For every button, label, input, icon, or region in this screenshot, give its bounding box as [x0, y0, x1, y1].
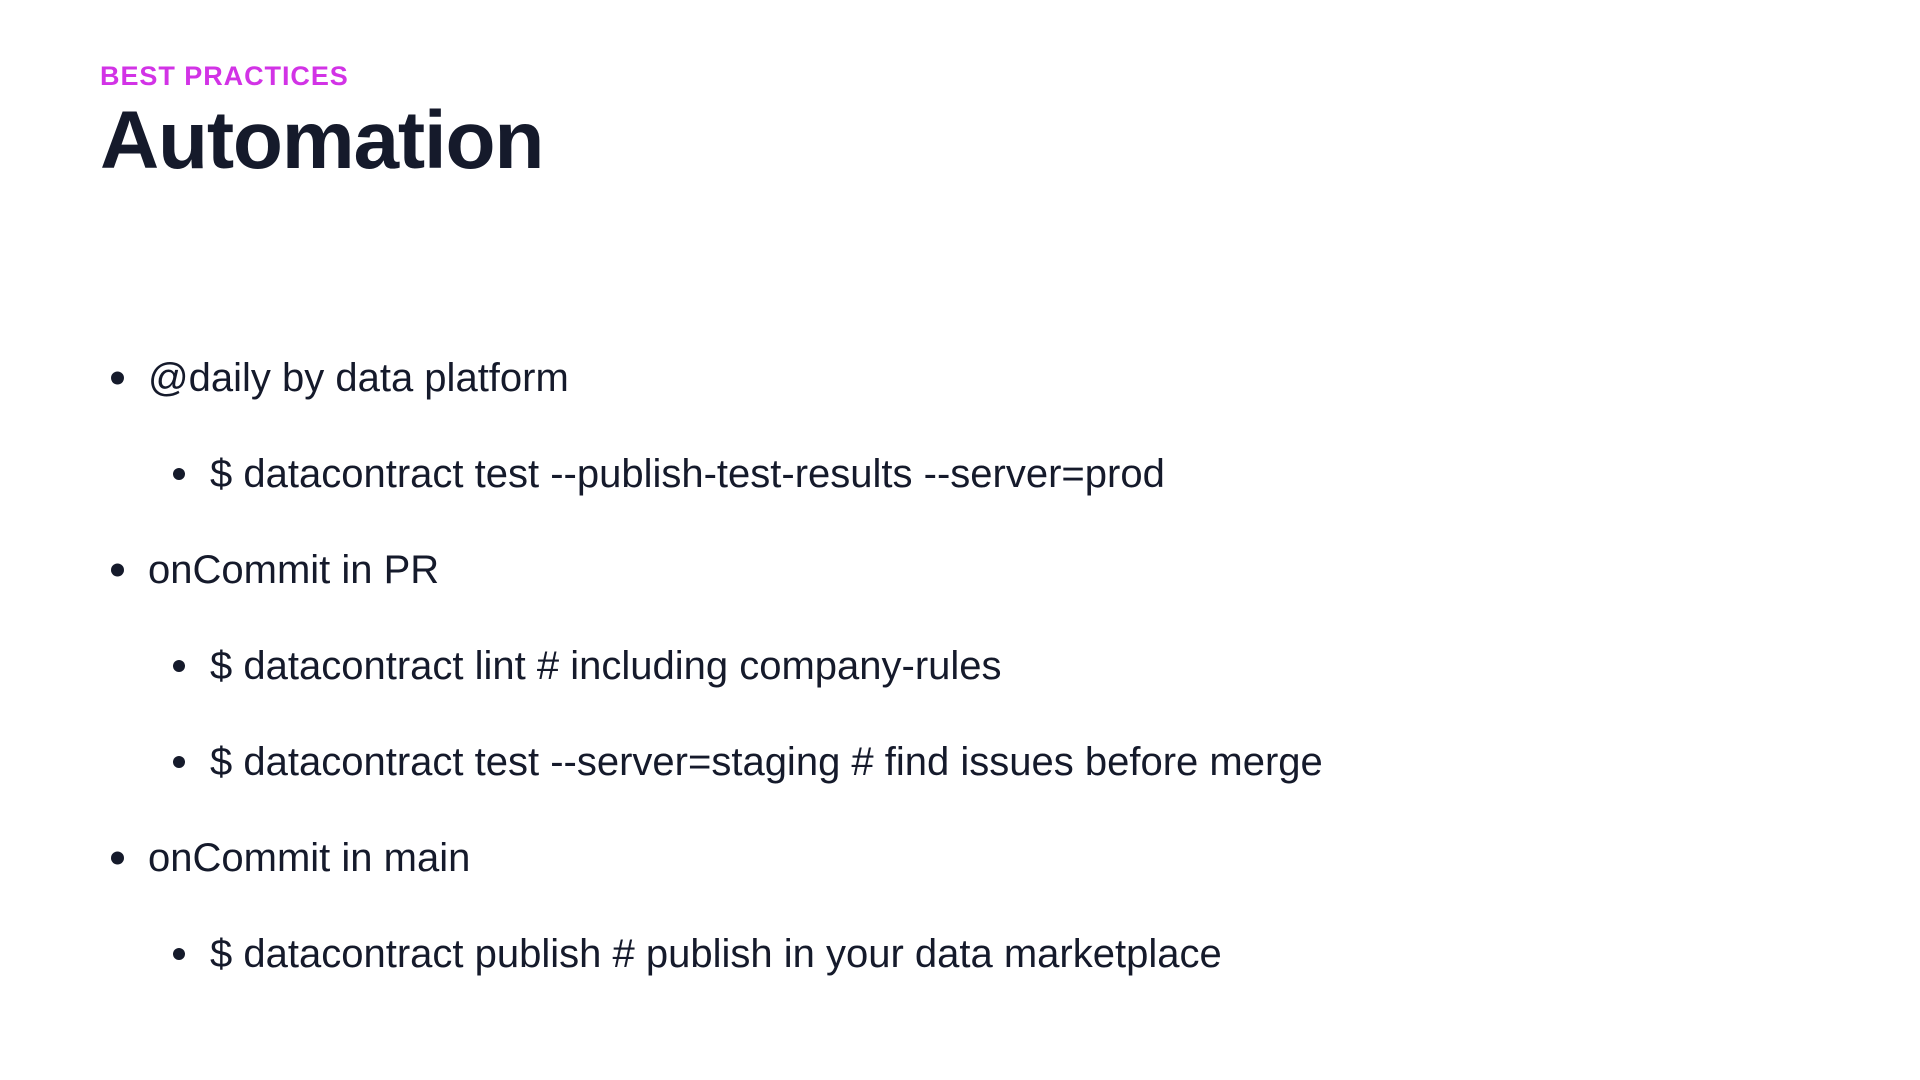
- bullet-row: $ datacontract test --publish-test-resul…: [100, 426, 1860, 522]
- bullet-dot-icon: [111, 852, 124, 865]
- bullet-text-command: $ datacontract lint # including company-…: [210, 618, 1002, 714]
- bullet-dot-icon: [173, 660, 185, 672]
- slide-eyebrow-label: BEST PRACTICES: [100, 62, 543, 92]
- bullet-list: @daily by data platform $ datacontract t…: [100, 330, 1860, 1002]
- slide-root: BEST PRACTICES Automation @daily by data…: [0, 0, 1920, 1080]
- slide-content: @daily by data platform $ datacontract t…: [100, 330, 1860, 1002]
- list-item: $ datacontract test --server=staging # f…: [100, 714, 1860, 810]
- bullet-text-command: $ datacontract publish # publish in your…: [210, 906, 1222, 1002]
- bullet-row: onCommit in PR: [100, 522, 1860, 618]
- bullet-row: $ datacontract test --server=staging # f…: [100, 714, 1860, 810]
- bullet-row: $ datacontract publish # publish in your…: [100, 906, 1860, 1002]
- list-item: onCommit in PR $ datacontract lint # inc…: [100, 522, 1860, 810]
- bullet-text-command: $ datacontract test --publish-test-resul…: [210, 426, 1165, 522]
- list-item: @daily by data platform $ datacontract t…: [100, 330, 1860, 522]
- bullet-dot-icon: [173, 468, 185, 480]
- sub-bullet-list: $ datacontract publish # publish in your…: [100, 906, 1860, 1002]
- bullet-dot-icon: [173, 756, 185, 768]
- bullet-row: $ datacontract lint # including company-…: [100, 618, 1860, 714]
- slide-header: BEST PRACTICES Automation: [100, 62, 543, 184]
- list-item: onCommit in main $ datacontract publish …: [100, 810, 1860, 1002]
- bullet-row: @daily by data platform: [100, 330, 1860, 426]
- list-item: $ datacontract lint # including company-…: [100, 618, 1860, 714]
- bullet-row: onCommit in main: [100, 810, 1860, 906]
- list-item: $ datacontract publish # publish in your…: [100, 906, 1860, 1002]
- page-title: Automation: [100, 98, 543, 184]
- sub-bullet-list: $ datacontract lint # including company-…: [100, 618, 1860, 810]
- bullet-text: onCommit in main: [148, 810, 470, 906]
- bullet-dot-icon: [111, 372, 124, 385]
- bullet-text-command: $ datacontract test --server=staging # f…: [210, 714, 1323, 810]
- bullet-dot-icon: [111, 564, 124, 577]
- list-item: $ datacontract test --publish-test-resul…: [100, 426, 1860, 522]
- bullet-text: @daily by data platform: [148, 330, 569, 426]
- bullet-text: onCommit in PR: [148, 522, 439, 618]
- bullet-dot-icon: [173, 948, 185, 960]
- sub-bullet-list: $ datacontract test --publish-test-resul…: [100, 426, 1860, 522]
